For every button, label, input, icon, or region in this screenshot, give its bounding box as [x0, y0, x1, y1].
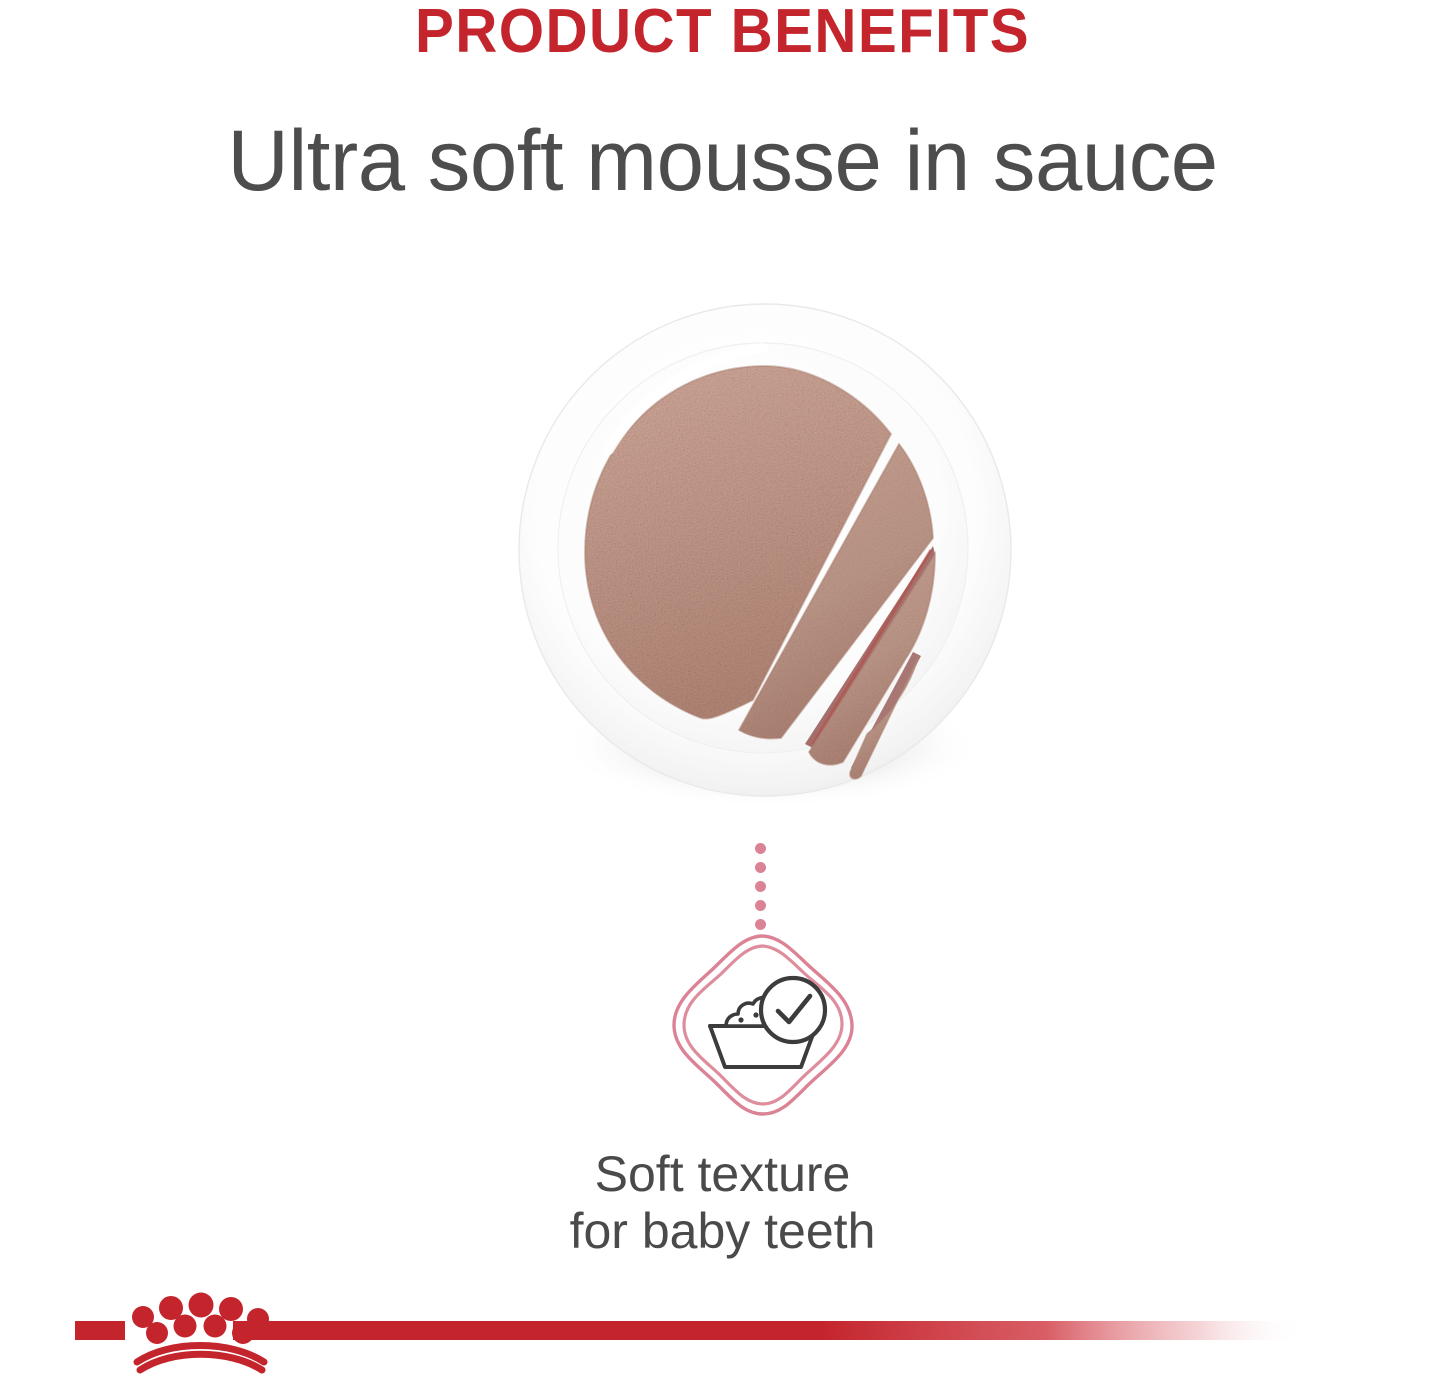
connector-dot: [755, 862, 766, 873]
benefit-caption-line-1: Soft texture: [0, 1146, 1445, 1203]
food-bowl-check-icon: [668, 930, 858, 1120]
hero-product-image: [513, 300, 1018, 820]
connector-dot: [755, 919, 766, 930]
page-title: Ultra soft mousse in sauce: [7, 112, 1438, 211]
connector-dot: [755, 900, 766, 911]
royal-canin-crown-logo: [132, 1293, 269, 1371]
connector-dot: [755, 843, 766, 854]
benefit-caption-line-2: for baby teeth: [0, 1203, 1445, 1260]
page-eyebrow-title: PRODUCT BENEFITS: [43, 0, 1401, 67]
connector-dot: [755, 881, 766, 892]
dotted-connector: [755, 843, 769, 931]
benefit-caption: Soft texture for baby teeth: [0, 1146, 1445, 1260]
footer-brand-bar: [0, 1288, 1445, 1374]
